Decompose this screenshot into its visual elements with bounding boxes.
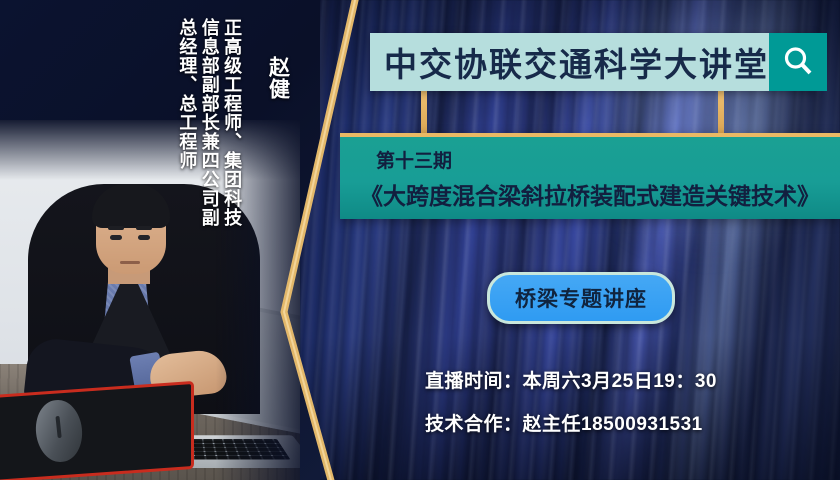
topic-pill-button[interactable]: 桥梁专题讲座	[487, 272, 675, 324]
contact-text: 技术合作：赵主任18500931531	[425, 409, 703, 436]
webinar-poster: 赵健 正高级工程师、集团科技 信息部副部长兼四公司副 总经理、总工程师 中交协联…	[0, 0, 840, 480]
speaker-name: 赵健	[267, 56, 288, 100]
page-title: 中交协联交通科学大讲堂	[370, 38, 769, 86]
search-icon	[781, 45, 815, 79]
topic-pill-label: 桥梁专题讲座	[515, 283, 647, 313]
speaker-credential-line-1: 正高级工程师、集团科技	[223, 18, 241, 227]
speaker-credential-line-3: 总经理、总工程师	[178, 18, 196, 170]
lecture-info-band: 第十三期 《大跨度混合梁斜拉桥装配式建造关键技术》	[340, 133, 840, 219]
live-time-text: 直播时间：本周六3月25日19：30	[425, 366, 717, 393]
speaker-credential-line-2: 信息部副部长兼四公司副	[200, 18, 218, 227]
brand-title-bar: 中交协联交通科学大讲堂	[370, 33, 815, 91]
lecture-title: 《大跨度混合梁斜拉桥装配式建造关键技术》	[340, 177, 840, 211]
issue-number: 第十三期	[340, 146, 840, 173]
search-button[interactable]	[769, 33, 827, 91]
speaker-credentials: 赵健 正高级工程师、集团科技 信息部副部长兼四公司副 总经理、总工程师	[178, 18, 288, 318]
